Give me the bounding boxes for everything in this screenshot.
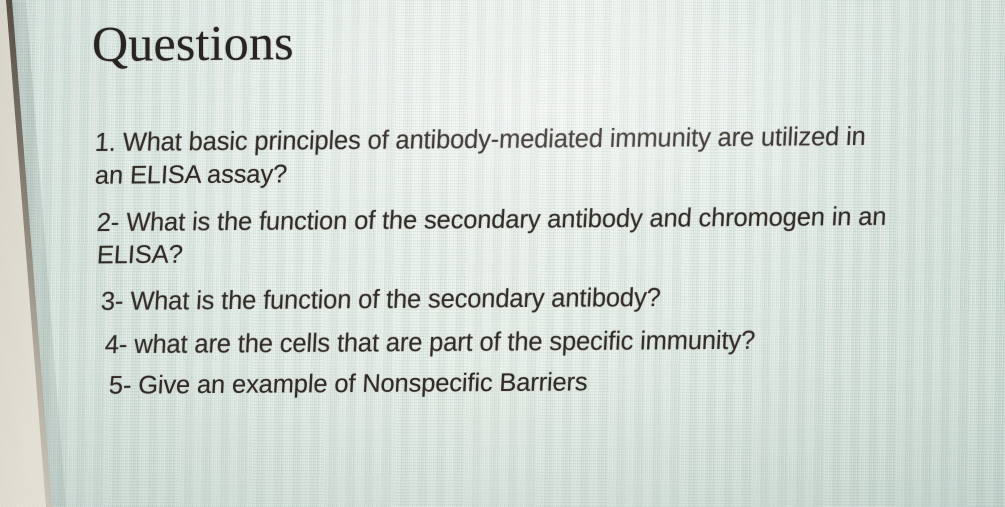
question-5-line-1: 5- Give an example of Nonspecific Barrie… [108,370,588,399]
slide-content: Questions 1. What basic principles of an… [0,0,1005,507]
question-2-line-1: 2- What is the function of the secondary… [96,205,887,237]
question-2-line-2: ELISA? [96,243,183,269]
question-4-line-1: 4- what are the cells that are part of t… [104,329,755,359]
page-title: Questions [92,17,294,69]
question-3-line-1: 3- What is the function of the secondary… [100,286,661,315]
question-1-line-2: an ELISA assay? [94,162,287,189]
slide-photo: Questions 1. What basic principles of an… [0,0,1005,507]
question-1-line-1: 1. What basic principles of antibody-med… [94,125,866,157]
